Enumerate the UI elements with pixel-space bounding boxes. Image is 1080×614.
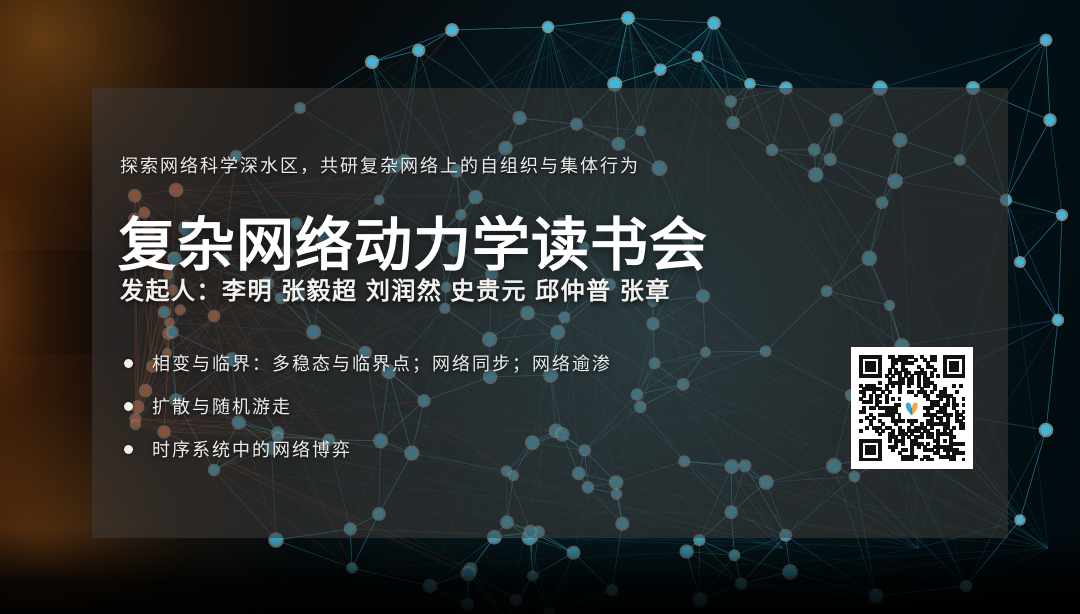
topic-label: 扩散与随机游走	[152, 393, 292, 419]
tagline: 探索网络科学深水区，共研复杂网络上的自组织与集体行为	[120, 152, 640, 178]
list-item: 时序系统中的网络博弈	[124, 430, 824, 468]
qr-code[interactable]	[851, 347, 973, 469]
page-title: 复杂网络动力学读书会	[118, 198, 708, 282]
list-item: 相变与临界：多稳态与临界点；网络同步；网络逾渗	[124, 344, 824, 382]
list-item: 扩散与随机游走	[124, 387, 824, 425]
content-layer: 探索网络科学深水区，共研复杂网络上的自组织与集体行为 复杂网络动力学读书会 发起…	[0, 0, 1080, 614]
topic-list: 相变与临界：多稳态与临界点；网络同步；网络逾渗 扩散与随机游走 时序系统中的网络…	[124, 344, 824, 473]
bullet-icon	[124, 359, 133, 368]
topic-label: 时序系统中的网络博弈	[152, 436, 352, 462]
bullet-icon	[124, 402, 133, 411]
bullet-icon	[124, 445, 133, 454]
poster-root: 探索网络科学深水区，共研复杂网络上的自组织与集体行为 复杂网络动力学读书会 发起…	[0, 0, 1080, 614]
butterfly-logo-icon	[901, 397, 923, 419]
organizers-line: 发起人：李明 张毅超 刘润然 史贵元 邱仲普 张章	[120, 271, 671, 306]
topic-label: 相变与临界：多稳态与临界点；网络同步；网络逾渗	[152, 350, 612, 376]
qr-matrix	[859, 355, 965, 461]
